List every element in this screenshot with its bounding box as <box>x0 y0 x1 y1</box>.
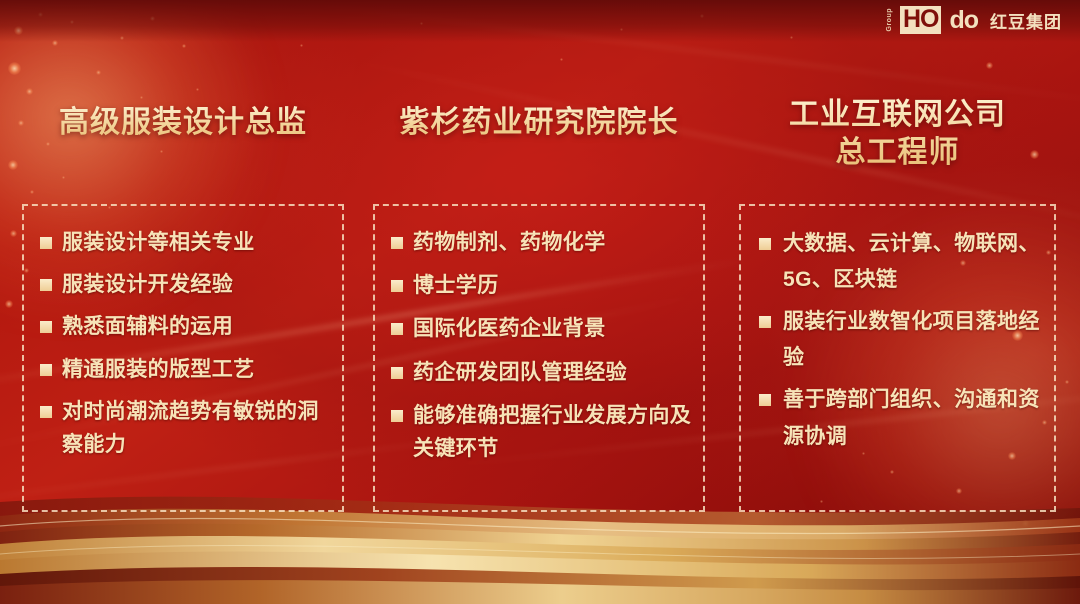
list-item: 熟悉面辅料的运用 <box>32 310 334 343</box>
requirement-columns: 高级服装设计总监 服装设计等相关专业 服装设计开发经验 熟悉面辅料的运用 精通服… <box>0 0 1080 604</box>
brand-header-bar: Group HO do 红豆集团 <box>0 0 1080 42</box>
recruitment-poster-slide: Group HO do 红豆集团 <box>0 0 1080 604</box>
column-title-2: 紫杉药业研究院院长 <box>373 104 705 142</box>
list-item: 服装设计开发经验 <box>32 268 334 301</box>
requirement-list-1: 服装设计等相关专业 服装设计开发经验 熟悉面辅料的运用 精通服装的版型工艺 对时… <box>32 226 334 461</box>
list-item: 服装行业数智化项目落地经验 <box>749 304 1046 376</box>
requirement-box-1: 服装设计等相关专业 服装设计开发经验 熟悉面辅料的运用 精通服装的版型工艺 对时… <box>22 204 344 512</box>
requirement-box-3: 大数据、云计算、物联网、5G、区块链 服装行业数智化项目落地经验 善于跨部门组织… <box>739 204 1056 512</box>
list-item: 博士学历 <box>383 269 695 302</box>
logo-wordmark-chinese: 红豆集团 <box>990 8 1062 33</box>
list-item: 药企研发团队管理经验 <box>383 356 695 389</box>
list-item: 服装设计等相关专业 <box>32 226 334 259</box>
logo-group-tag: Group <box>886 8 893 32</box>
column-title-3: 工业互联网公司 总工程师 <box>739 96 1056 172</box>
list-item: 国际化医药企业背景 <box>383 312 695 345</box>
list-item: 对时尚潮流趋势有敏锐的洞察能力 <box>32 395 334 461</box>
list-item: 能够准确把握行业发展方向及关键环节 <box>383 399 695 465</box>
list-item: 大数据、云计算、物联网、5G、区块链 <box>749 226 1046 298</box>
logo-wordmark-ho: HO <box>900 6 942 34</box>
column-title-1: 高级服装设计总监 <box>22 104 344 142</box>
list-item: 精通服装的版型工艺 <box>32 353 334 386</box>
hodo-group-logo: Group HO do 红豆集团 <box>886 6 1062 34</box>
list-item: 善于跨部门组织、沟通和资源协调 <box>749 382 1046 454</box>
requirement-list-3: 大数据、云计算、物联网、5G、区块链 服装行业数智化项目落地经验 善于跨部门组织… <box>749 226 1046 455</box>
list-item: 药物制剂、药物化学 <box>383 226 695 259</box>
logo-wordmark-do: do <box>949 8 978 33</box>
requirement-list-2: 药物制剂、药物化学 博士学历 国际化医药企业背景 药企研发团队管理经验 能够准确… <box>383 226 695 465</box>
requirement-box-2: 药物制剂、药物化学 博士学历 国际化医药企业背景 药企研发团队管理经验 能够准确… <box>373 204 705 512</box>
